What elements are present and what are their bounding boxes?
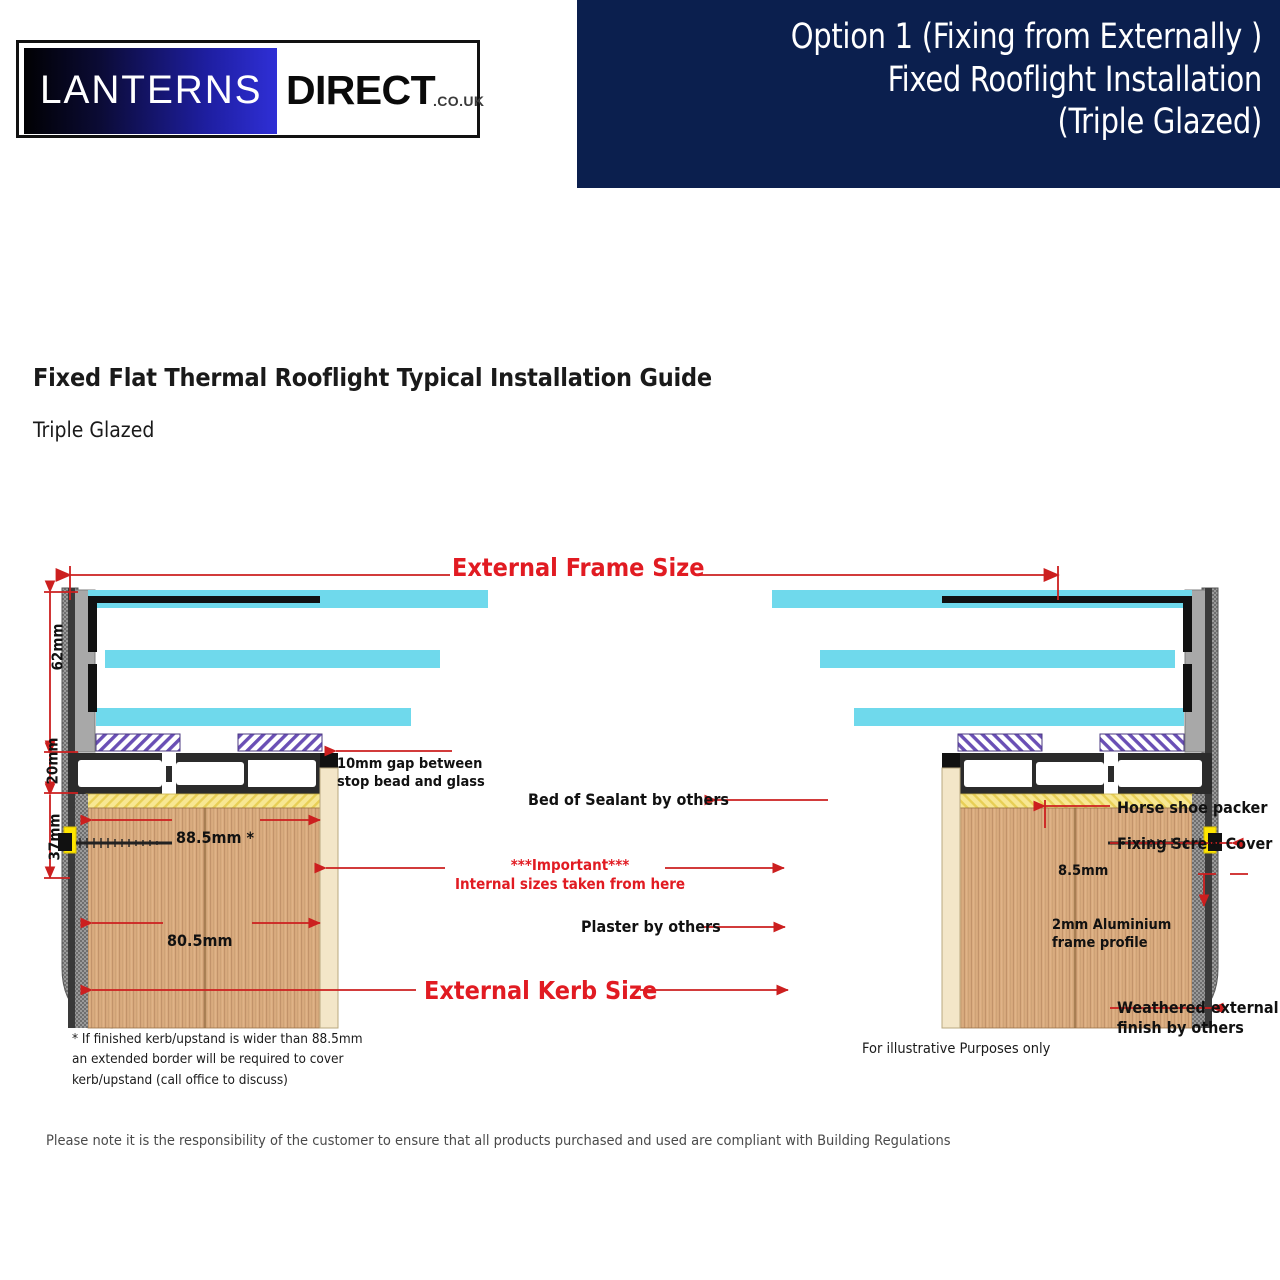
- setting-block-b-right: [958, 734, 1042, 751]
- glass-pane-inner-left: [96, 708, 411, 726]
- annotation-horse-shoe-packer: Horse shoe packer: [1117, 798, 1267, 818]
- spacer-bar-upper-left: [88, 596, 320, 603]
- setting-block-b-left: [238, 734, 322, 751]
- annotation-important-internal-sizes: ***Important*** Internal sizes taken fro…: [455, 856, 685, 894]
- left-section-assembly: [58, 588, 488, 1028]
- dimension-label-external-frame-size: External Frame Size: [452, 552, 705, 583]
- inner-lining-left: [75, 794, 88, 1028]
- building-regulations-disclaimer: Please note it is the responsibility of …: [46, 1133, 951, 1149]
- dimension-label-height-kerb-upper: 37mm: [45, 814, 63, 861]
- annotation-plaster-by-others: Plaster by others: [581, 917, 721, 937]
- glass-pane-mid-right: [820, 650, 1175, 668]
- dimension-label-height-profile: 20mm: [43, 738, 61, 785]
- annotation-weathered-external-finish: Weathered external finish by others: [1117, 998, 1279, 1038]
- dimension-label-height-glazing: 62mm: [48, 624, 66, 671]
- spacer-bar-vert-b-left: [88, 664, 97, 712]
- inner-lining-right: [1192, 794, 1205, 1028]
- annotation-bed-of-sealant: Bed of Sealant by others: [528, 790, 729, 810]
- plaster-board-left: [320, 768, 338, 1028]
- spacer-bar-vert-a-right: [1183, 596, 1192, 652]
- setting-block-a-left: [96, 734, 180, 751]
- dimension-label-width-frame: 88.5mm *: [176, 828, 254, 847]
- annotation-aluminium-frame-profile: 2mm Aluminium frame profile: [1052, 916, 1171, 952]
- annotation-fixing-screw-cover: Fixing Screw Cover: [1117, 834, 1272, 854]
- sealant-bed-left: [86, 794, 322, 808]
- illustrative-purposes-note: For illustrative Purposes only: [862, 1041, 1050, 1057]
- dimension-label-external-kerb-size: External Kerb Size: [424, 975, 657, 1006]
- dimension-label-width-kerb: 80.5mm: [167, 931, 233, 950]
- glass-pane-mid-left: [105, 650, 440, 668]
- spacer-bar-vert-b-right: [1183, 664, 1192, 712]
- footnote-kerb-width: * If finished kerb/upstand is wider than…: [72, 1029, 363, 1090]
- spacer-bar-upper-right: [942, 596, 1192, 603]
- glass-pane-inner-right: [854, 708, 1184, 726]
- frame-edge-line-left: [68, 588, 75, 1028]
- aluminium-frame-profile-left: [68, 753, 322, 794]
- annotation-gap-note: 10mm gap between stop bead and glass: [337, 755, 485, 791]
- spacer-bar-vert-a-left: [88, 596, 97, 652]
- aluminium-frame-profile-right: [958, 753, 1212, 794]
- setting-block-a-right: [1100, 734, 1184, 751]
- dimension-label-offset-edge: 8.5mm: [1058, 862, 1108, 880]
- plaster-board-right: [942, 768, 960, 1028]
